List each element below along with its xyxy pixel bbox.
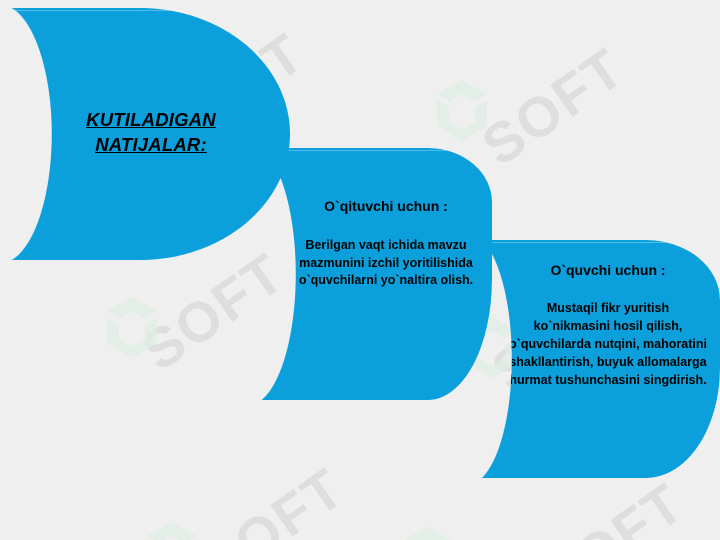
watermark-u-logo-icon [400, 525, 454, 540]
watermark-u-logo-icon [145, 520, 199, 540]
slide-title: KUTILADIGAN NATIJALAR: [30, 108, 272, 158]
watermark-soft-text: SOFT [470, 35, 636, 178]
card-expected-results[interactable]: KUTILADIGAN NATIJALAR: [0, 8, 290, 260]
card-for-student-heading: O`quvchi uchun : [550, 262, 665, 279]
watermark-soft-text: SOFT [530, 470, 696, 540]
card-for-teacher-heading: O`qituvchi uchun : [324, 198, 448, 215]
watermark-soft-text: SOFT [190, 455, 356, 540]
watermark-u-logo-icon [105, 295, 159, 361]
card-for-student[interactable]: O`quvchi uchun : Mustaqil fikr yuritish … [468, 240, 720, 478]
card-for-student-body: Mustaqil fikr yuritish ko`nikmasini hosi… [508, 299, 708, 390]
presentation-slide: SOFT SOFT SOFT SOFT SOFT SOFT O`q [0, 0, 720, 540]
card-for-teacher-body: Berilgan vaqt ichida mavzu mazmunini izc… [294, 237, 478, 290]
watermark-u-logo-icon [435, 78, 489, 144]
